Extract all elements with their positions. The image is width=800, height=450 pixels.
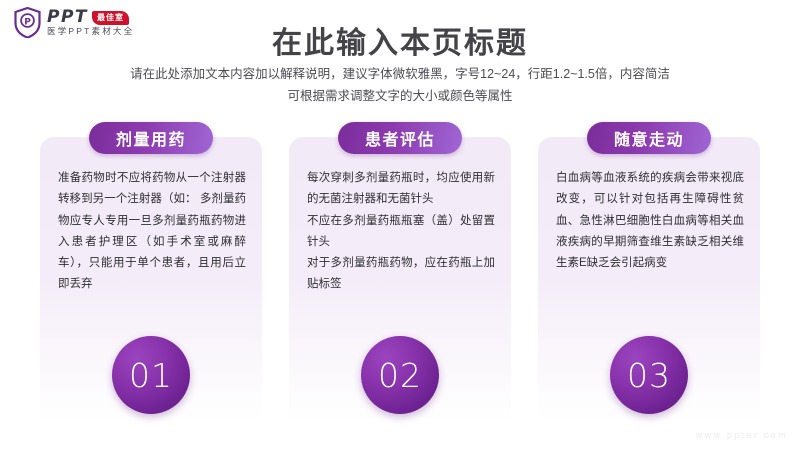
card-group: 剂量用药 准备药物时不应将药物从一个注射器转移到另一个注射器（如： 多剂量药物应… <box>0 137 800 422</box>
card-header-pill[interactable]: 患者评估 <box>338 122 462 154</box>
card-body-text: 准备药物时不应将药物从一个注射器转移到另一个注射器（如： 多剂量药物应专人专用一… <box>58 168 246 296</box>
site-watermark: www.ppter.com <box>696 430 788 440</box>
page-subtitle: 请在此处添加文本内容加以解释说明，建议字体微软雅黑，字号12~24，行距1.2~… <box>0 64 800 108</box>
card-header-pill[interactable]: 剂量用药 <box>89 122 213 154</box>
card-number-badge: 03 <box>610 336 688 414</box>
card-number-label: 03 <box>627 359 671 392</box>
card-paragraph: 对于多剂量药瓶药物，应在药瓶上加贴标签 <box>307 253 495 296</box>
card-number-badge: 01 <box>112 336 190 414</box>
card-number-label: 02 <box>378 359 422 392</box>
content-card[interactable]: 剂量用药 准备药物时不应将药物从一个注射器转移到另一个注射器（如： 多剂量药物应… <box>40 137 262 422</box>
card-paragraph: 每次穿刺多剂量药瓶时，均应使用新的无菌注射器和无菌针头 <box>307 168 495 211</box>
subtitle-line-1: 请在此处添加文本内容加以解释说明，建议字体微软雅黑，字号12~24，行距1.2~… <box>0 64 800 86</box>
card-body-text: 白血病等血液系统的疾病会带来视底改变，可以针对包括再生障碍性贫血、急性淋巴细胞性… <box>556 168 744 274</box>
card-paragraph: 白血病等血液系统的疾病会带来视底改变，可以针对包括再生障碍性贫血、急性淋巴细胞性… <box>556 168 744 274</box>
card-number-label: 01 <box>129 359 173 392</box>
content-card[interactable]: 随意走动 白血病等血液系统的疾病会带来视底改变，可以针对包括再生障碍性贫血、急性… <box>538 137 760 422</box>
card-paragraph: 不应在多剂量药瓶瓶塞（盖）处留置针头 <box>307 211 495 254</box>
subtitle-line-2: 可根据需求调整文字的大小或颜色等属性 <box>0 86 800 108</box>
content-card[interactable]: 患者评估 每次穿刺多剂量药瓶时，均应使用新的无菌注射器和无菌针头 不应在多剂量药… <box>289 137 511 422</box>
card-paragraph: 准备药物时不应将药物从一个注射器转移到另一个注射器（如： 多剂量药物应专人专用一… <box>58 168 246 296</box>
card-number-badge: 02 <box>361 336 439 414</box>
card-header-pill[interactable]: 随意走动 <box>587 122 711 154</box>
page-title: 在此输入本页标题 <box>0 18 800 62</box>
card-body-text: 每次穿刺多剂量药瓶时，均应使用新的无菌注射器和无菌针头 不应在多剂量药瓶瓶塞（盖… <box>307 168 495 296</box>
